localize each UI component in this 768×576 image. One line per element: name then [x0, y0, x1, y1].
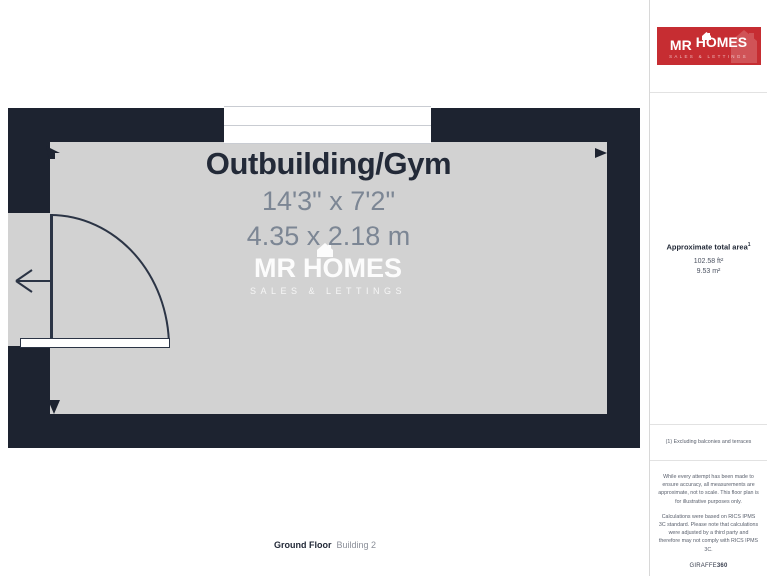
disclaimer-section: While every attempt has been made to ens… — [650, 461, 767, 576]
floorplan-canvas[interactable]: Outbuilding/Gym 14'3" x 7'2" 4.35 x 2.18… — [0, 0, 650, 576]
brand-name-first: MR — [670, 38, 692, 52]
provider-name: GIRAFFE — [689, 563, 716, 569]
brand-tagline: SALES & LETTINGS — [669, 54, 748, 59]
total-area-imperial: 102.58 ft² — [694, 258, 724, 265]
floorplan-page: Outbuilding/Gym 14'3" x 7'2" 4.35 x 2.18… — [0, 0, 768, 576]
total-area-title: Approximate total area1 — [666, 242, 750, 252]
floorplan-watermark-logo: MR HOMES SALES & LETTINGS — [228, 255, 428, 296]
brand-logo[interactable]: MR HOMES SALES & LETTINGS — [657, 27, 761, 65]
sidebar-logo-cell: MR HOMES SALES & LETTINGS — [650, 0, 767, 93]
provider-suffix: 360 — [717, 563, 728, 569]
total-area-title-text: Approximate total area — [666, 243, 747, 252]
footer-floor-label: Ground Floor — [274, 540, 332, 550]
dimension-arrow-down-icon — [46, 398, 62, 414]
watermark-tagline: SALES & LETTINGS — [228, 286, 428, 296]
footnote-section: (1) Excluding balconies and terraces — [650, 425, 767, 461]
dimension-arrow-left-icon — [46, 144, 62, 160]
disclaimer-paragraph-2: Calculations were based on RICS IPMS 3C … — [658, 513, 759, 554]
floorplan-footer: Ground FloorBuilding 2 — [0, 540, 650, 550]
brand-house-icon — [702, 27, 711, 35]
footnote-text: (1) Excluding balconies and terraces — [666, 439, 752, 446]
total-area-metric: 9.53 m² — [697, 268, 721, 275]
window-icon — [224, 106, 431, 144]
info-sidebar: MR HOMES SALES & LETTINGS — [650, 0, 767, 576]
total-area-section: Approximate total area1 102.58 ft² 9.53 … — [650, 93, 767, 425]
provider-branding: GIRAFFE360 — [689, 563, 727, 569]
watermark-house-icon — [317, 243, 333, 257]
dimension-arrow-right-icon — [593, 144, 609, 160]
watermark-brand-first: MR — [254, 255, 296, 282]
disclaimer-paragraph-1: While every attempt has been made to ens… — [658, 473, 759, 506]
door-threshold — [20, 338, 170, 348]
entrance-direction-arrow-icon — [10, 265, 54, 297]
total-area-footnote-marker: 1 — [748, 242, 751, 248]
watermark-brand-second: HOMES — [303, 253, 402, 283]
footer-building-label: Building 2 — [336, 540, 376, 550]
